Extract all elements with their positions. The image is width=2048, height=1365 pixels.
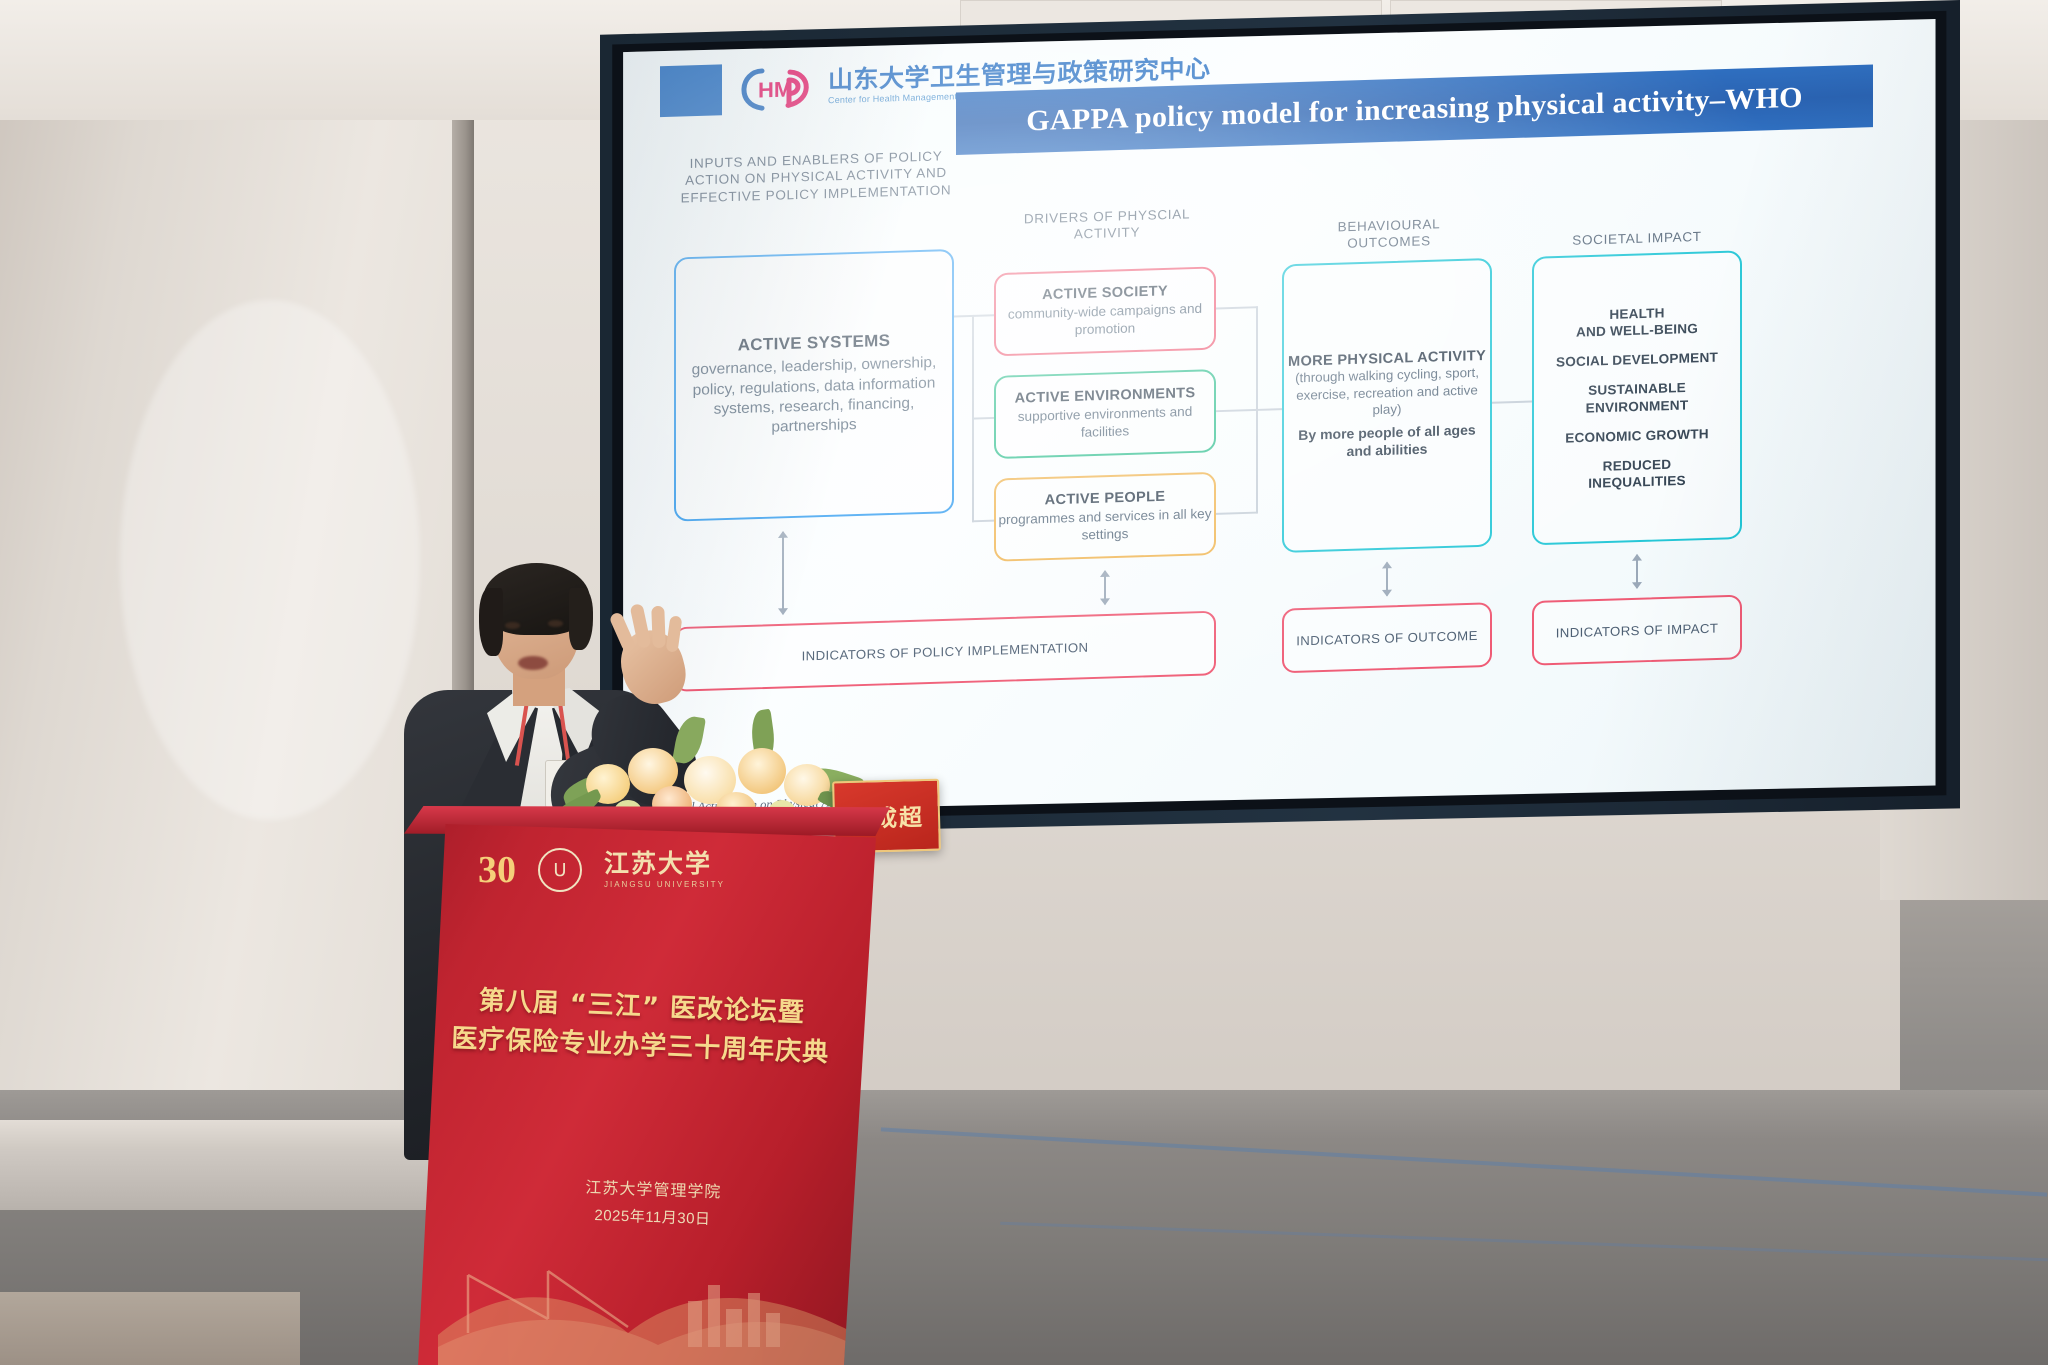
university-logo: 江苏大学 JIANGSU UNIVERSITY (604, 851, 725, 889)
speaker-eye (505, 622, 520, 629)
podium-host: 江苏大学管理学院 (488, 1170, 819, 1206)
university-seal-icon: U (538, 848, 582, 892)
anniversary-logo: 30 (478, 851, 516, 889)
screenshot-root: HM 山东大学卫生管理与政策研究中心 Center for Health Man… (0, 0, 2048, 1365)
node-body: programmes and services in all key setti… (996, 505, 1214, 545)
connector-drivers-to-outcome (1216, 306, 1258, 309)
speaker-mouth (518, 656, 548, 670)
speaker-hair-side (479, 588, 503, 656)
podium-banner-title: 第八届 “三江” 医改论坛暨 医疗保险专业办学三十周年庆典 (451, 981, 832, 1073)
indicator-policy-implementation[interactable]: INDICATORS OF POLICY IMPLEMENTATION (674, 611, 1216, 692)
indicator-label: INDICATORS OF OUTCOME (1296, 628, 1478, 648)
impact-item: SOCIAL DEVELOPMENT (1556, 349, 1718, 371)
arrow-outcome-indicators (1386, 562, 1388, 595)
speaker-eye (548, 620, 563, 627)
indicator-outcome[interactable]: INDICATORS OF OUTCOME (1282, 602, 1492, 673)
node-body: community-wide campaigns and promotion (996, 300, 1214, 340)
node-emphasis: By more people of all ages and abilities (1284, 421, 1490, 462)
slide-title: GAPPA policy model for increasing physic… (1026, 81, 1802, 138)
carpet (0, 1292, 300, 1365)
hmp-logo-icon: HM (732, 63, 818, 113)
impact-item: REDUCED INEQUALITIES (1588, 455, 1686, 491)
indicator-label: INDICATORS OF IMPACT (1556, 620, 1719, 640)
connector-people-right (1216, 512, 1258, 515)
node-heading: ACTIVE SYSTEMS (738, 332, 891, 356)
logo-blue-block (660, 64, 722, 117)
podium: 30 U 江苏大学 JIANGSU UNIVERSITY 第八届 “三江” 医改… (418, 824, 876, 1365)
caption-inputs: INPUTS AND ENABLERS OF POLICY ACTION ON … (666, 147, 966, 207)
caption-societal: SOCIETAL IMPACT (1542, 227, 1732, 250)
connector-more-to-impact (1492, 401, 1532, 404)
impact-item: HEALTH AND WELL-BEING (1576, 304, 1698, 341)
node-body: supportive environments and facilities (996, 403, 1214, 443)
node-body: (through walking cycling, sport, exercis… (1284, 364, 1490, 421)
indicator-label: INDICATORS OF POLICY IMPLEMENTATION (802, 640, 1089, 663)
arrow-impact-indicators (1636, 555, 1638, 588)
connector-to-people (972, 520, 994, 523)
podium-logo-row: 30 U 江苏大学 JIANGSU UNIVERSITY (478, 848, 725, 892)
speaker-finger (651, 606, 665, 648)
caption-behavioural: BEHAVIOURAL OUTCOMES (1294, 214, 1484, 254)
flower (738, 748, 786, 794)
indicator-impact[interactable]: INDICATORS OF IMPACT (1532, 595, 1742, 666)
connector-outcome-to-impact (1256, 408, 1282, 411)
node-active-systems[interactable]: ACTIVE SYSTEMS governance, leadership, o… (674, 249, 954, 522)
arrow-drivers-indicators (1104, 571, 1106, 604)
university-name-cn: 江苏大学 (604, 851, 725, 876)
node-active-people[interactable]: ACTIVE PEOPLE programmes and services in… (994, 472, 1216, 562)
connector-to-environments (972, 417, 994, 420)
connector-systems-to-drivers (954, 314, 994, 317)
node-more-physical-activity[interactable]: MORE PHYSICAL ACTIVITY (through walking … (1282, 258, 1492, 553)
speaker-hair-side (569, 588, 593, 650)
connector-env-right (1216, 409, 1258, 412)
impact-item: SUSTAINABLE ENVIRONMENT (1586, 380, 1689, 417)
caption-drivers: DRIVERS OF PHYSCIAL ACTIVITY (1012, 205, 1202, 245)
node-heading: ACTIVE PEOPLE (1045, 489, 1166, 508)
impact-item: ECONOMIC GROWTH (1565, 425, 1708, 446)
university-name-en: JIANGSU UNIVERSITY (604, 880, 725, 889)
node-body: governance, leadership, ownership, polic… (676, 353, 952, 441)
wall-highlight (120, 300, 420, 820)
podium-skyline-art (438, 1215, 858, 1365)
node-heading: ACTIVE SOCIETY (1042, 284, 1168, 303)
node-active-society[interactable]: ACTIVE SOCIETY community-wide campaigns … (994, 266, 1216, 356)
node-active-environments[interactable]: ACTIVE ENVIRONMENTS supportive environme… (994, 369, 1216, 459)
node-societal-impact[interactable]: HEALTH AND WELL-BEING SOCIAL DEVELOPMENT… (1532, 250, 1742, 545)
arrow-systems-indicators (782, 532, 784, 614)
